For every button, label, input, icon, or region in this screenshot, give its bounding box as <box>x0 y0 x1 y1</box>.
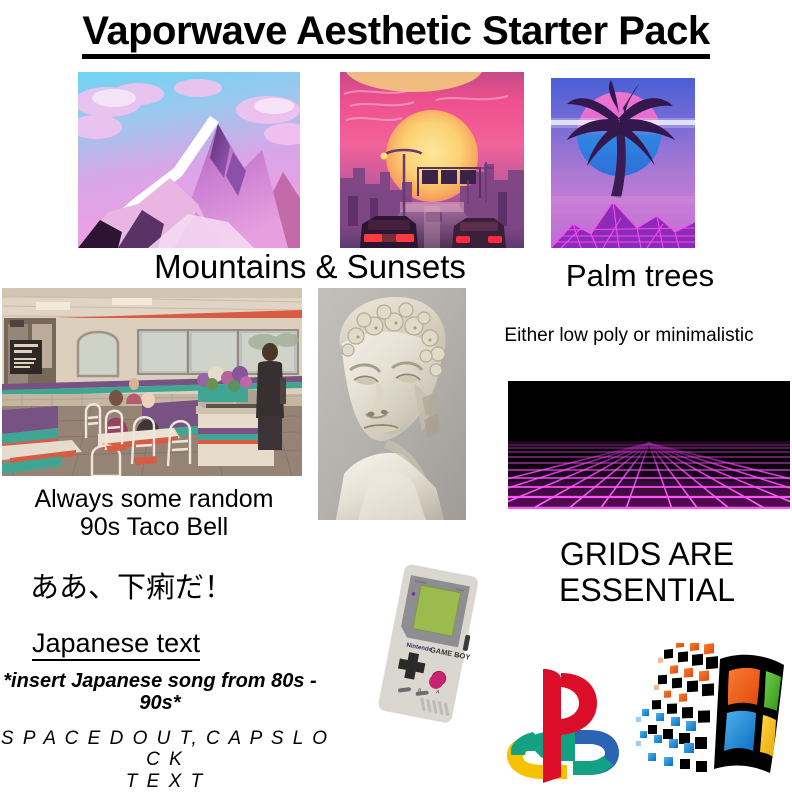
synthwave-sunset-svg <box>340 72 524 248</box>
caption-taco-bell: Always some random 90s Taco Bell <box>4 485 304 541</box>
game-boy-photo: Nintendo GAME BOY ™ B A <box>375 558 485 733</box>
caption-mountains-sunsets: Mountains & Sunsets <box>130 249 490 286</box>
palm-tree-photo <box>551 78 695 248</box>
game-boy-svg: Nintendo GAME BOY ™ B A <box>375 558 485 733</box>
greek-marble-bust-svg <box>318 288 466 520</box>
synthwave-sunset-photo <box>340 72 524 248</box>
playstation-logo <box>497 655 623 787</box>
mountain-photo-svg <box>78 72 300 248</box>
caption-low-poly: Either low poly or minimalistic <box>466 325 792 346</box>
windows-logo <box>634 643 789 785</box>
windows-logo-svg <box>634 643 789 785</box>
page-title: Vaporwave Aesthetic Starter Pack <box>0 10 792 52</box>
caption-grids-essential: GRIDS ARE ESSENTIAL <box>512 537 782 609</box>
taco-bell-interior-svg <box>2 288 302 476</box>
greek-marble-bust-photo <box>318 288 466 520</box>
neon-grid-photo <box>508 381 790 509</box>
taco-bell-interior-photo <box>2 288 302 476</box>
caption-palm-trees: Palm trees <box>520 259 760 294</box>
mountain-photo <box>78 72 300 248</box>
caption-japanese-label: Japanese text <box>6 628 312 658</box>
playstation-logo-svg <box>497 655 623 787</box>
page-title-text: Vaporwave Aesthetic Starter Pack <box>82 9 709 59</box>
caption-japanese-song: *insert Japanese song from 80s - 90s* <box>0 670 320 715</box>
neon-grid-svg <box>508 381 790 509</box>
caption-japanese-phrase: ああ、下痢だ！ <box>6 572 310 604</box>
palm-tree-svg <box>551 78 695 248</box>
caption-spaced-caps-text: S P A C E D O U T, C A P S L O C K T E X… <box>0 728 330 792</box>
caption-japanese-label-text: Japanese text <box>32 628 200 661</box>
